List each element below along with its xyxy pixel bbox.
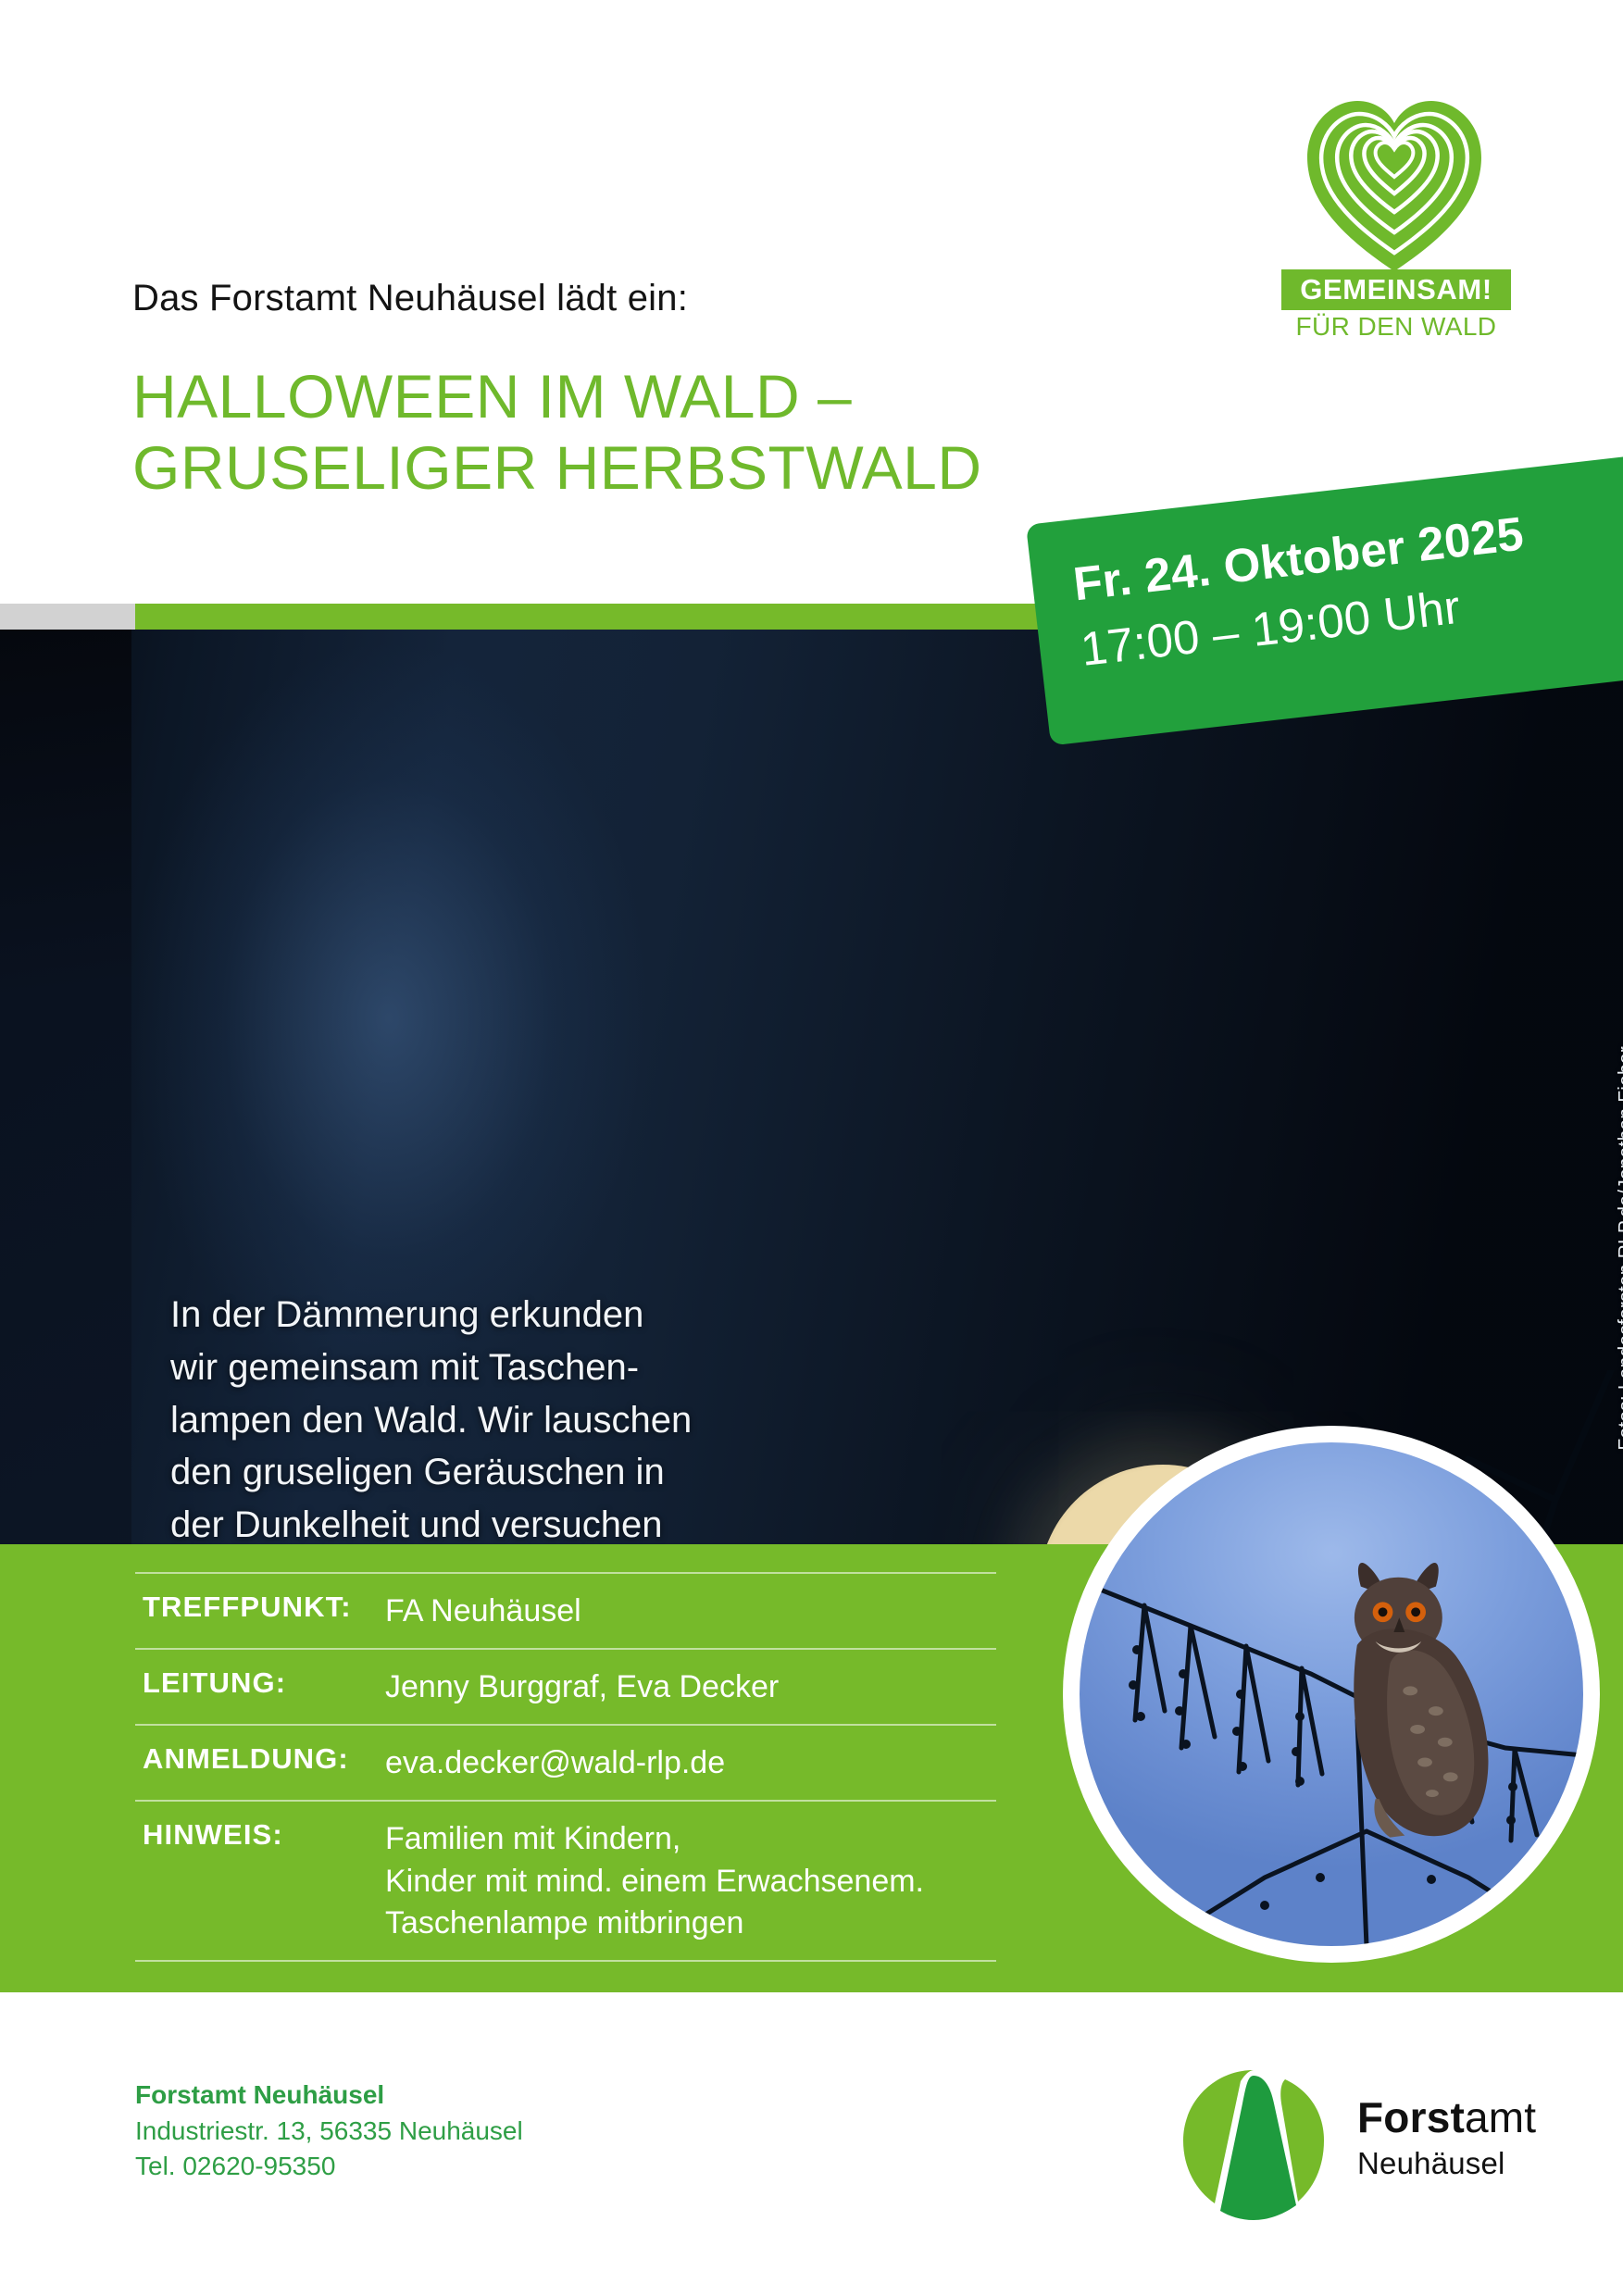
description-line: wir gemeinsam mit Taschen- xyxy=(170,1341,726,1394)
title-line-1: HALLOWEEN IM WALD – xyxy=(132,361,1058,432)
gemeinsam-label-bar: GEMEINSAM! xyxy=(1281,269,1511,310)
forstamt-wordmark-bold: Forst xyxy=(1357,2093,1465,2141)
gemeinsam-fuer-den-wald-logo: GEMEINSAM! FÜR DEN WALD xyxy=(1276,97,1517,338)
forstamt-logo-text: Forstamt Neuhäusel xyxy=(1357,2092,1536,2181)
info-value-line: Familien mit Kindern, xyxy=(385,1818,996,1861)
info-row-hinweis: HINWEIS: Familien mit Kindern, Kinder mi… xyxy=(135,1800,996,1963)
owl-photo-frame xyxy=(1063,1426,1600,1963)
info-label: ANMELDUNG: xyxy=(143,1742,374,1776)
eagle-owl-photo xyxy=(1080,1442,1583,1946)
page-title: HALLOWEEN IM WALD – GRUSELIGER HERBSTWAL… xyxy=(132,361,1058,504)
forstamt-logo: Forstamt Neuhäusel xyxy=(1174,2066,1563,2233)
divider-green-segment xyxy=(135,604,1181,630)
title-line-2: GRUSELIGER HERBSTWALD xyxy=(132,432,1058,504)
eagle-owl-icon xyxy=(1301,1554,1532,1855)
fuer-den-wald-label: FÜR DEN WALD xyxy=(1276,312,1517,342)
info-row-anmeldung: ANMELDUNG: eva.decker@wald-rlp.de xyxy=(135,1724,996,1800)
forstamt-wordmark-light: amt xyxy=(1465,2093,1536,2141)
info-row-treffpunkt: TREFFPUNKT: FA Neuhäusel xyxy=(135,1572,996,1648)
gemeinsam-label: GEMEINSAM! xyxy=(1300,273,1492,306)
info-value: Familien mit Kindern, Kinder mit mind. e… xyxy=(385,1818,996,1946)
photo-credit: Fotos: Landesforsten.RLP.de/Jonathan Fie… xyxy=(1616,1046,1623,1451)
info-table: TREFFPUNKT: FA Neuhäusel LEITUNG: Jenny … xyxy=(135,1572,996,1962)
footer-address: Forstamt Neuhäusel Industriestr. 13, 563… xyxy=(135,2078,523,2185)
date-banner-content: Fr. 24. Oktober 2025 17:00 – 19:00 Uhr xyxy=(1070,505,1533,676)
info-row-leitung: LEITUNG: Jenny Burggraf, Eva Decker xyxy=(135,1648,996,1724)
description-line: der Dunkelheit und versuchen xyxy=(170,1499,726,1544)
tree-ring-heart-icon xyxy=(1302,97,1487,273)
forstamt-wordmark: Forstamt xyxy=(1357,2092,1536,2142)
info-value-line: Kinder mit mind. einem Erwachsenem. xyxy=(385,1861,996,1903)
invite-line: Das Forstamt Neuhäusel lädt ein: xyxy=(132,278,688,319)
night-forest-photo: In der Dämmerung erkunden wir gemeinsam … xyxy=(0,630,1623,1544)
description-line: den gruseligen Geräuschen in xyxy=(170,1446,726,1499)
info-value-line: Taschenlampe mitbringen xyxy=(385,1903,996,1945)
info-value: FA Neuhäusel xyxy=(385,1591,996,1633)
info-label: TREFFPUNKT: xyxy=(143,1591,374,1624)
info-value-line: Jenny Burggraf, Eva Decker xyxy=(385,1666,996,1709)
description-line: In der Dämmerung erkunden xyxy=(170,1289,726,1341)
info-value: Jenny Burggraf, Eva Decker xyxy=(385,1666,996,1709)
description-text: In der Dämmerung erkunden wir gemeinsam … xyxy=(170,1289,726,1544)
info-label: HINWEIS: xyxy=(143,1818,374,1852)
info-value: eva.decker@wald-rlp.de xyxy=(385,1742,996,1785)
info-label: LEITUNG: xyxy=(143,1666,374,1700)
footer-phone: Tel. 02620-95350 xyxy=(135,2149,523,2185)
poster-canvas: Das Forstamt Neuhäusel lädt ein: HALLOWE… xyxy=(0,0,1623,2296)
footer-org-name: Forstamt Neuhäusel xyxy=(135,2078,523,2114)
forstamt-location: Neuhäusel xyxy=(1357,2146,1536,2181)
forstamt-tree-circle-icon xyxy=(1174,2066,1333,2226)
info-value-line: FA Neuhäusel xyxy=(385,1591,996,1633)
divider-grey-segment xyxy=(0,604,135,630)
footer-street: Industriestr. 13, 56335 Neuhäusel xyxy=(135,2114,523,2150)
registration-email[interactable]: eva.decker@wald-rlp.de xyxy=(385,1742,996,1785)
description-line: lampen den Wald. Wir lauschen xyxy=(170,1394,726,1447)
